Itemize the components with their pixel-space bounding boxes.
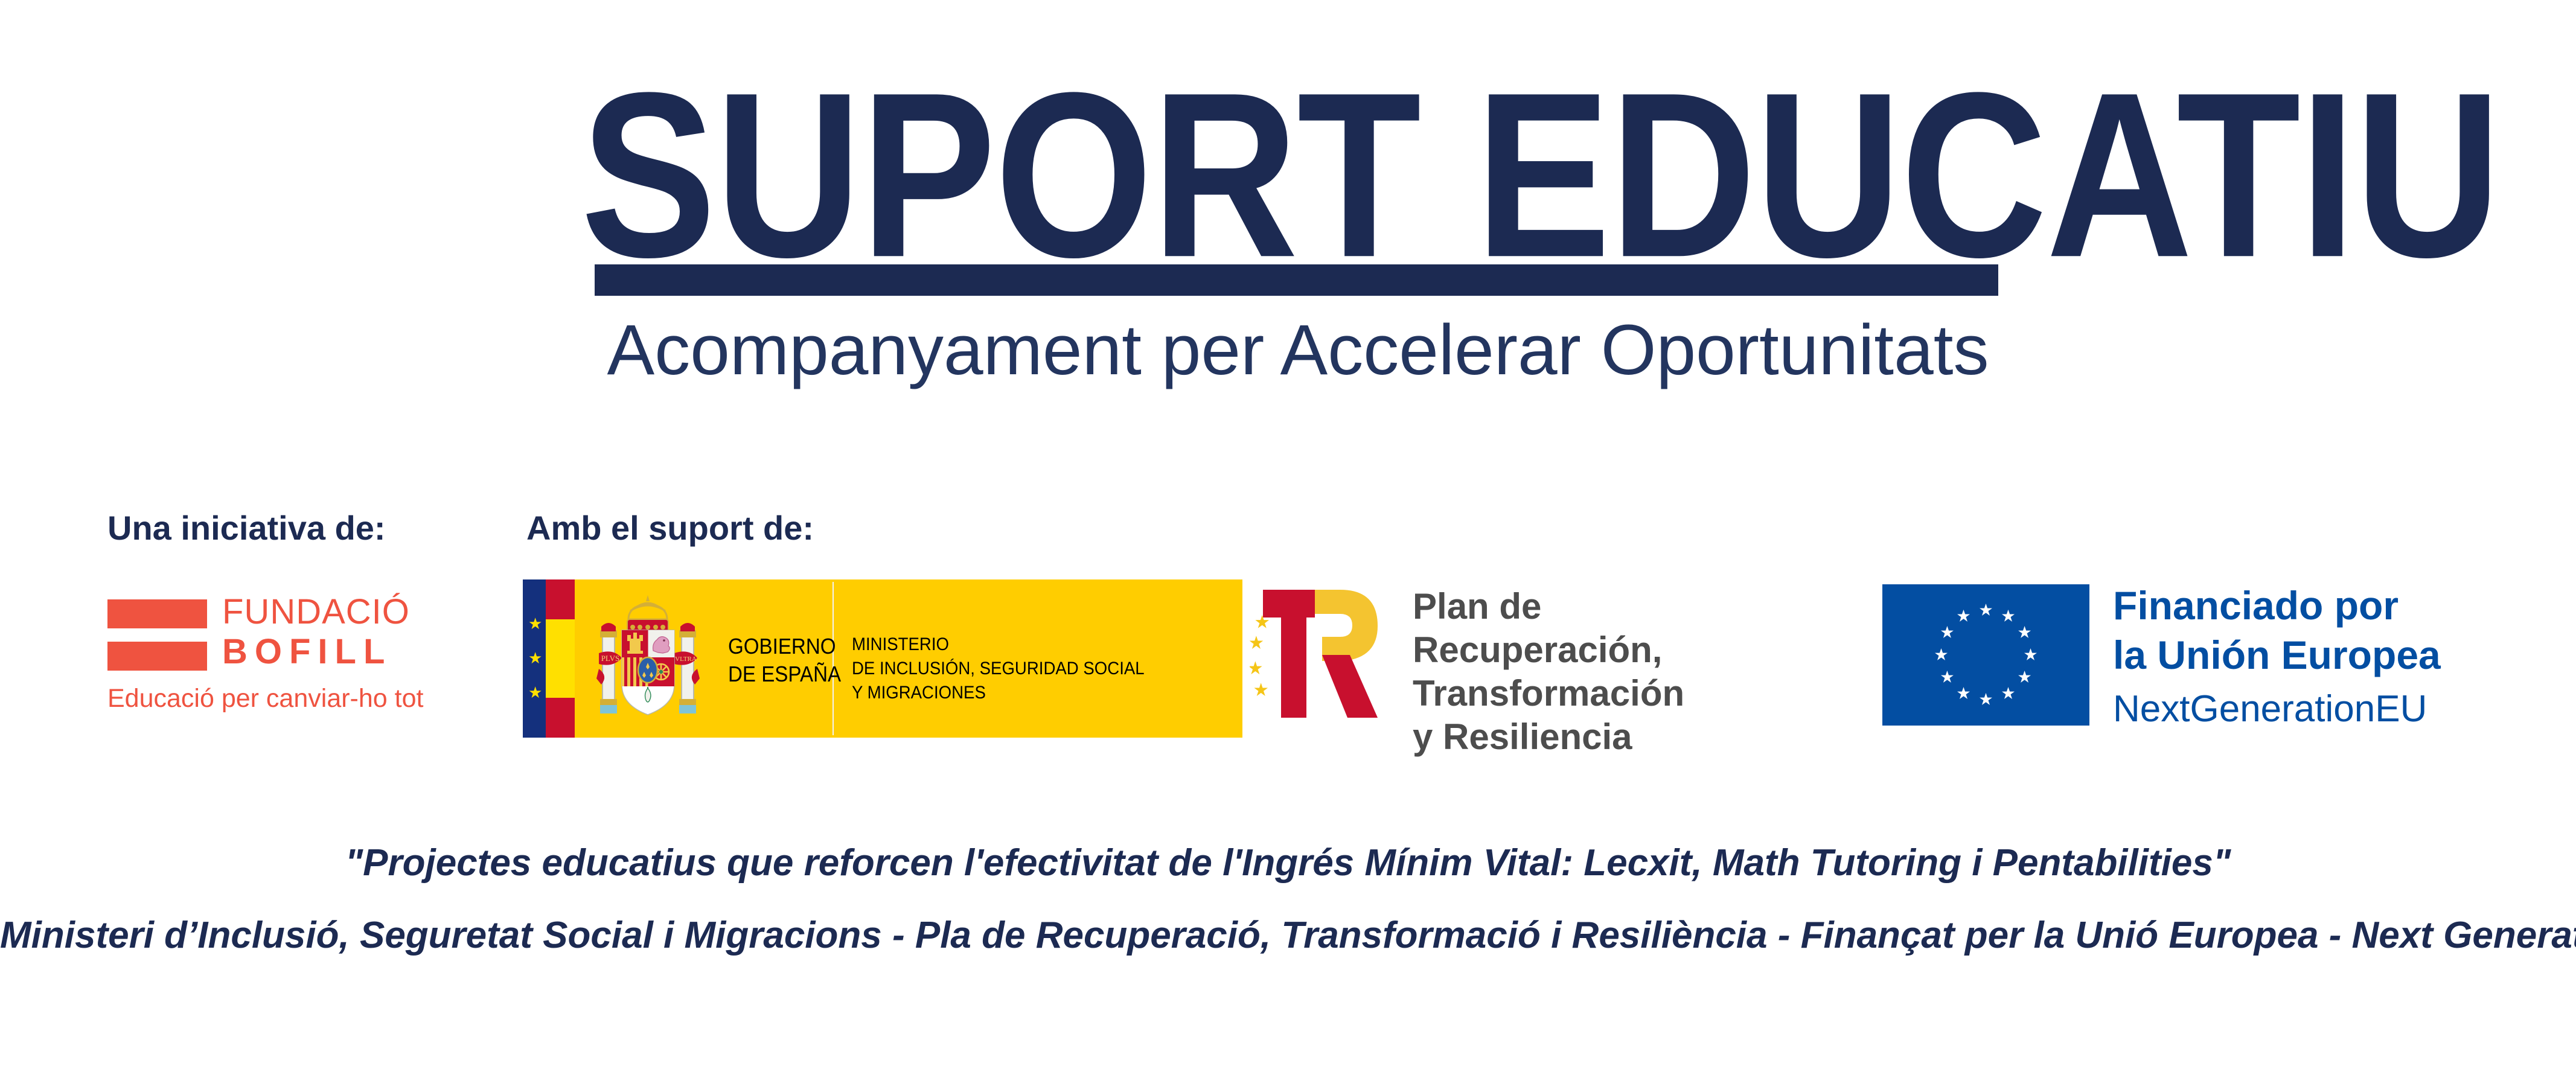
nextgenerationeu-text: NextGenerationEU [2113, 688, 2499, 730]
plan-recuperacion-text: Plan de Recuperación, Transformación y R… [1413, 585, 1781, 759]
bofill-bar-bottom-icon [107, 642, 207, 671]
spain-flag-red-band-icon [546, 579, 575, 619]
financiado-union-europea-logo: Financiado por la Unión Europea NextGene… [1882, 584, 2504, 732]
title-underline-bar [595, 264, 1998, 296]
initiative-label: Una iniciativa de: [107, 510, 386, 546]
gobierno-text: GOBIERNO DE ESPAÑA [728, 633, 841, 688]
fundacio-bofill-logo: FUNDACIÓ BOFILL Educació per canviar-ho … [107, 595, 421, 712]
plan-recuperacion-logo: Plan de Recuperación, Transformación y R… [1250, 576, 1781, 739]
star-icon: ★ [528, 618, 540, 630]
star-icon: ★ [528, 652, 540, 664]
gobierno-de-espana-logo: ★ ★ ★ PLVS VLTRA [523, 579, 1242, 738]
plan-tr-mark-icon [1250, 576, 1401, 727]
bofill-bars-icon [107, 599, 207, 672]
eu-strip-icon: ★ ★ ★ [523, 579, 546, 738]
ministerio-text: MINISTERIO DE INCLUSIÓN, SEGURIDAD SOCIA… [852, 633, 1145, 705]
bofill-word-bofill: BOFILL [222, 634, 392, 669]
footer-funding-note: Ministeri d’Inclusió, Seguretat Social i… [0, 913, 2576, 959]
bofill-wordmark: FUNDACIÓ BOFILL [222, 595, 421, 676]
spain-flag-yellow-band-icon [546, 619, 575, 698]
eu-funded-text: Financiado por la Unión Europea [2113, 581, 2499, 680]
eu-flag-icon [1882, 584, 2089, 726]
eu-stars-icon [1882, 584, 2089, 726]
bofill-bar-top-icon [107, 599, 207, 628]
bofill-tagline: Educació per canviar-ho tot [107, 684, 423, 713]
star-icon: ★ [528, 686, 540, 698]
footer-project-title: "Projectes educatius que reforcen l'efec… [0, 840, 2576, 886]
svg-text:PLVS: PLVS [601, 654, 620, 663]
svg-text:VLTRA: VLTRA [675, 656, 697, 663]
page-subtitle: Acompanyament per Accelerar Oportunitats [543, 308, 2053, 392]
support-label: Amb el suport de: [526, 510, 814, 546]
header-block: SUPORT EDUCATIU Acompanyament per Accele… [0, 0, 2576, 423]
eu-text-block: Financiado por la Unión Europea NextGene… [2113, 581, 2499, 730]
spain-coat-of-arms-icon: PLVS VLTRA [595, 593, 701, 724]
bofill-word-fundacio: FUNDACIÓ [222, 595, 410, 630]
page-title: SUPORT EDUCATIU [581, 57, 2009, 292]
spain-flag-red-band-icon [546, 698, 575, 738]
